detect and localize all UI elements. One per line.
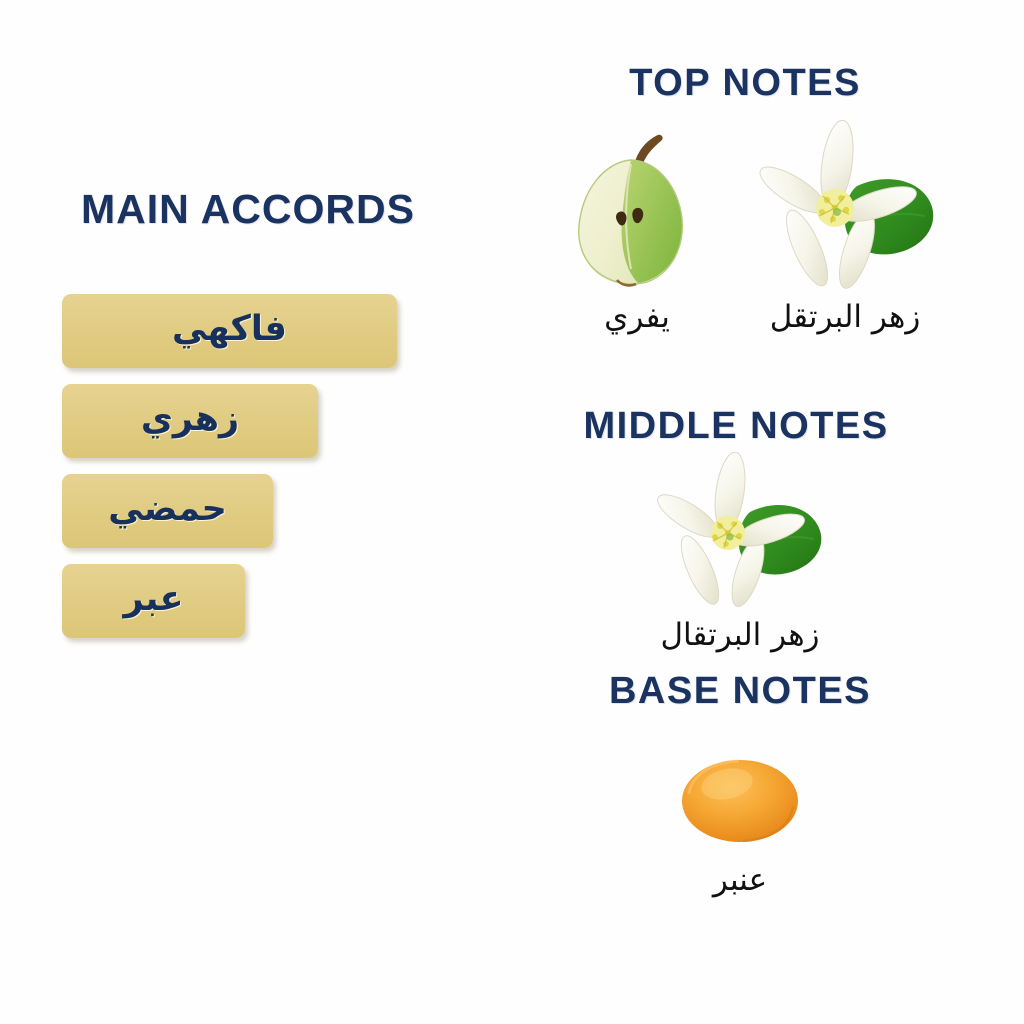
accord-bar[interactable]: عبر (62, 564, 245, 638)
base-notes-heading: BASE NOTES (505, 670, 975, 713)
main-accords-heading: MAIN ACCORDS (0, 186, 496, 233)
amber-icon (675, 748, 805, 853)
note-item-orange-blossom-middle[interactable]: زهر البرتقال (615, 460, 865, 652)
note-item-amber[interactable]: عنبر (625, 748, 855, 897)
accord-bar-label: زهري (141, 402, 239, 441)
orange-blossom-icon (640, 460, 840, 610)
fragrance-notes-infographic: MAIN ACCORDS فاكهي زهري حمضي عبر TOP NOT… (0, 0, 1024, 1024)
main-accords-bar-chart: فاكهي زهري حمضي عبر (62, 294, 397, 654)
accord-bar[interactable]: زهري (62, 384, 318, 458)
accord-bar-label: فاكهي (172, 312, 287, 351)
note-item-orange-blossom-top[interactable]: زهر البرتقل (720, 128, 970, 334)
accord-bar[interactable]: حمضي (62, 474, 273, 548)
pear-icon (557, 128, 717, 298)
middle-notes-heading: MIDDLE NOTES (505, 405, 967, 448)
note-label: يفري (527, 300, 747, 334)
top-notes-heading: TOP NOTES (505, 62, 985, 105)
orange-blossom-icon (745, 128, 945, 298)
note-label: زهر البرتقل (720, 300, 970, 334)
accord-bar-label: عبر (124, 582, 184, 621)
accord-bar-label: حمضي (108, 492, 227, 531)
note-label: زهر البرتقال (615, 618, 865, 652)
note-item-pear[interactable]: يفري (527, 128, 747, 334)
accord-bar[interactable]: فاكهي (62, 294, 397, 368)
note-label: عنبر (625, 863, 855, 897)
